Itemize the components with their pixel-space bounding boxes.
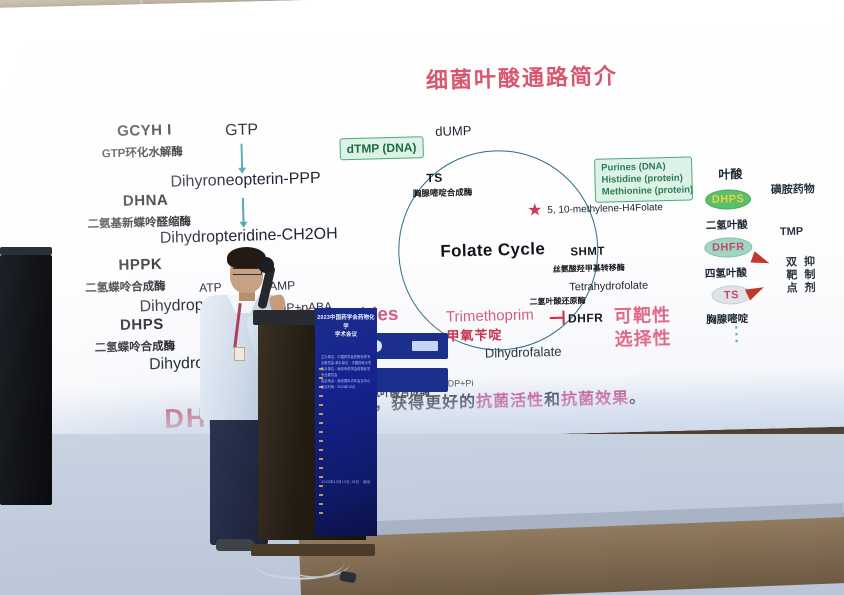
enzyme-code-shmt: SHMT — [570, 246, 605, 259]
metabolite-methylene-h4folate: 5, 10-methylene-H4Folate — [547, 202, 663, 216]
slide-title: 细菌叶酸通路简介 — [426, 58, 619, 95]
dna-helix-icon: ⋮ — [726, 321, 747, 346]
products-box: Purines (DNA) Histidine (protein) Methio… — [594, 156, 693, 203]
podium: 2023中国药学会药物化学 学术会议 主办单位：中国药学会药物化学专业委员会 承… — [253, 310, 371, 550]
star-icon: ★ — [527, 200, 543, 220]
podium-sign-title-line2: 学术会议 — [315, 331, 377, 340]
enzyme-code-hppk: HPPK — [118, 256, 162, 274]
product-methionine: Methionine (protein) — [602, 185, 686, 199]
folate-cycle-label: Folate Cycle — [440, 239, 545, 262]
selectivity-callout: 可靶性 选择性 — [614, 304, 672, 350]
rc-drug-tmp: TMP — [780, 226, 804, 239]
speaker-shoe — [216, 539, 256, 551]
rc-annotation-inhibitor: 抑制剂 — [801, 255, 817, 294]
metabolite-dump: dUMP — [435, 123, 471, 139]
enzyme-cn-dhps: 二氢蝶呤合成酶 — [94, 338, 175, 356]
rc-intermediate-thf: 四氢叶酸 — [705, 265, 747, 281]
rc-head-folate: 叶酸 — [718, 165, 742, 183]
speaker-badge — [234, 347, 245, 361]
dtmp-dna-box: dTMP (DNA) — [339, 136, 423, 160]
inhibitor-trimethoprim-cn: 甲氧苄啶 — [446, 323, 534, 344]
podium-sign-dot-pattern — [319, 368, 323, 518]
selectivity-line1: 可靶性 — [614, 304, 672, 328]
enzyme-code-gcyh: GCYH I — [117, 122, 172, 140]
pathway-arrow — [242, 198, 245, 224]
photo-scene: 细菌叶酸通路简介 GCYH I GTP环化水解酶 DHNA 二氨基新蝶呤醛缩酶 … — [0, 0, 844, 595]
podium-sign-sub-3: 会议地点：南京国际青年会议中心 会议时间：2023年10月 — [321, 378, 373, 390]
red-arrow-icon — [750, 251, 771, 269]
podium-sign-date: 2023年10月13日-15日 · 南京 — [315, 479, 377, 484]
podium-sign: 2023中国药学会药物化学 学术会议 主办单位：中国药学会药物化学专业委员会 承… — [315, 308, 377, 536]
loudspeaker — [0, 255, 52, 505]
microphone-head-icon — [258, 257, 274, 273]
enzyme-code-dhps: DHPS — [120, 316, 164, 334]
enzyme-cn-ts: 胸腺嘧啶合成酶 — [413, 186, 473, 200]
enzyme-code-dhna: DHNA — [123, 192, 169, 210]
inhibitor-trimethoprim: Trimethoprim 甲氧苄啶 — [446, 306, 535, 344]
glasses-icon — [232, 268, 262, 275]
loudspeaker-top — [0, 247, 52, 255]
red-arrow-icon — [745, 282, 766, 301]
enzyme-cn-hppk: 二氢蝶呤合成酶 — [85, 278, 166, 296]
inhibitor-trimethoprim-en: Trimethoprim — [446, 306, 534, 325]
enzyme-code-dhfr: DHFR — [568, 311, 604, 326]
podium-sign-sub-1: 主办单位：中国药学会药物化学专业委员会 承办单位：中国药科大学 — [321, 354, 373, 366]
rc-drug-sulfa: 磺胺药物 — [771, 180, 815, 197]
enzyme-code-ts: TS — [426, 171, 443, 185]
podium-sign-subtext: 主办单位：中国药学会药物化学专业委员会 承办单位：中国药科大学 协办单位：南京市… — [321, 354, 373, 390]
podium-sign-title: 2023中国药学会药物化学 学术会议 — [315, 314, 377, 340]
selectivity-line2: 选择性 — [614, 326, 672, 350]
rc-intermediate-dhf: 二氢叶酸 — [706, 217, 748, 233]
metabolite-dihyroneopterin: Dihyroneopterin-PPP — [170, 170, 321, 192]
metabolite-gtp: GTP — [225, 121, 258, 140]
rc-annotation-dual-target: 双靶点 — [783, 256, 799, 295]
metabolite-tetrahydrofolate: Tetrahydrofolate — [569, 280, 648, 294]
enzyme-cn-shmt: 丝氨酸羟甲基转移酶 — [553, 262, 625, 275]
rc-node-dhps: DHPS — [705, 189, 751, 210]
inhibition-glyph-icon: ⊣ — [548, 306, 567, 331]
podium-sign-title-line1: 2023中国药学会药物化学 — [315, 314, 377, 331]
logo-wordmark — [412, 341, 438, 351]
rc-node-dhfr: DHFR — [704, 237, 752, 258]
enzyme-cn-gcyh: GTP环化水解酶 — [102, 143, 184, 161]
pathway-arrow — [241, 144, 244, 170]
podium-sign-sub-2: 协办单位：南京市药学会药物化学专业委员会 — [321, 366, 373, 378]
metabolite-dihydrofalate: Dihydrofalate — [485, 344, 562, 361]
